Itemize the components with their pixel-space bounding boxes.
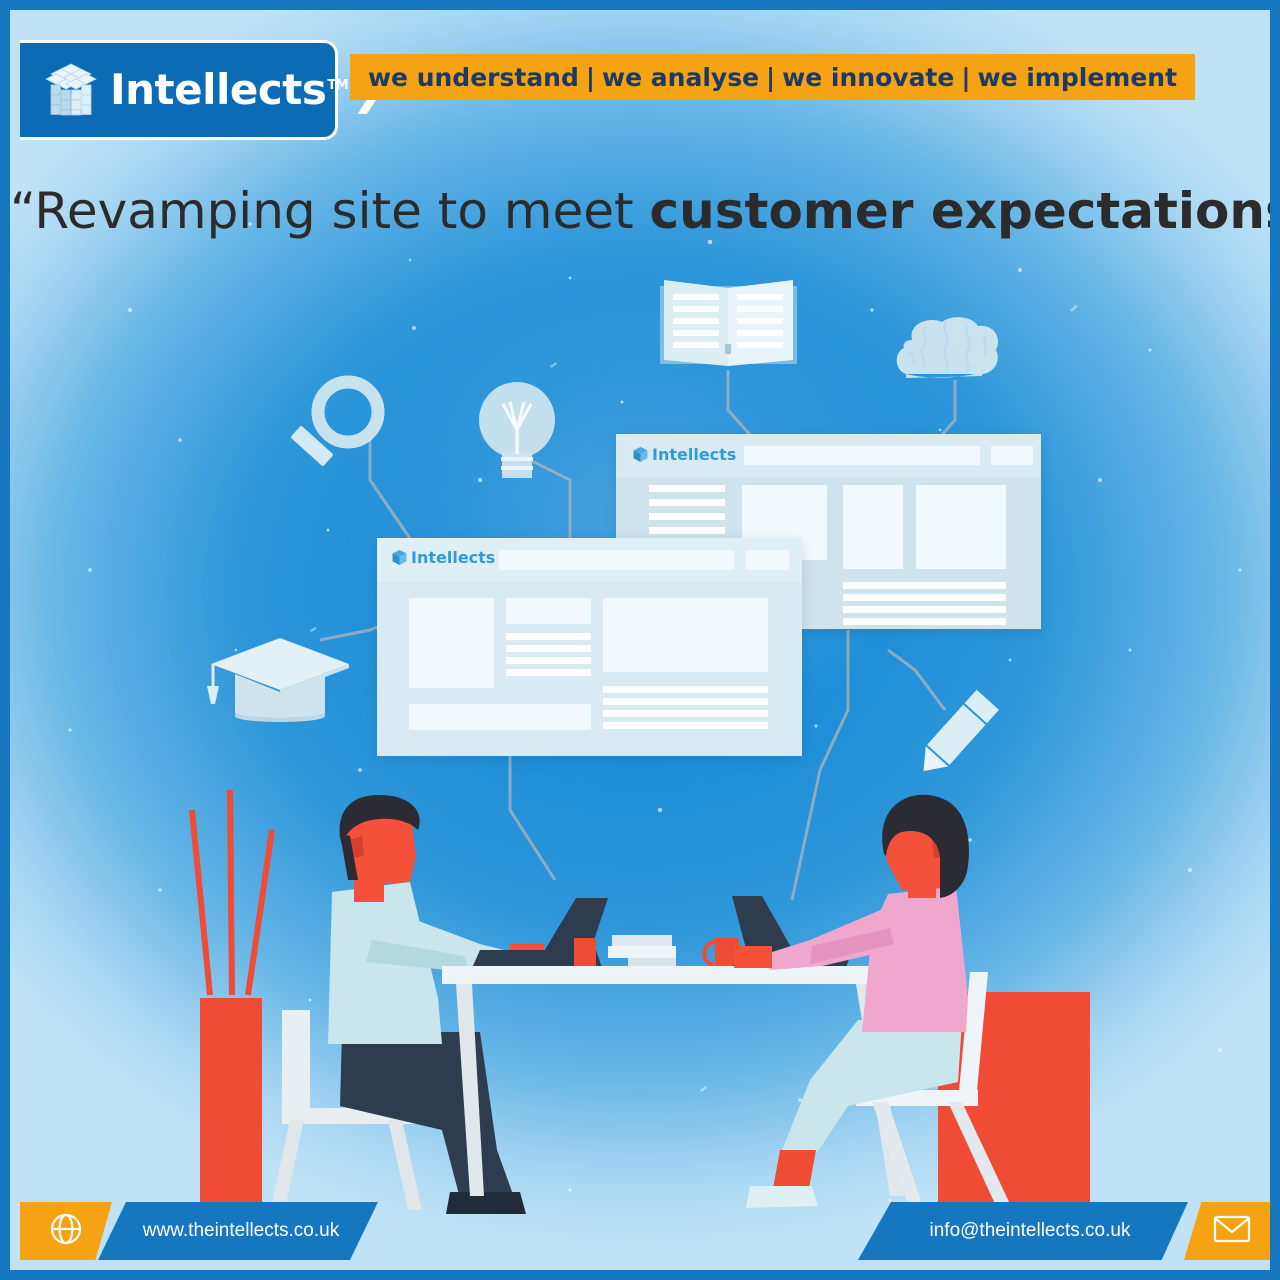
tagline-bar: we understand|we analyse|we innovate|we … xyxy=(350,54,1195,100)
tagline-item-3: we implement xyxy=(977,63,1177,92)
tagline-separator: | xyxy=(961,63,970,92)
red-cup-left xyxy=(574,938,596,970)
brand-logo-plate[interactable]: IntellectsTM❯ xyxy=(20,40,338,140)
globe-badge xyxy=(20,1202,112,1260)
tagline-separator: | xyxy=(586,63,595,92)
website-badge[interactable]: www.theintellects.co.uk xyxy=(98,1202,378,1260)
page-title: “Revamping site to meet customer expecta… xyxy=(10,182,1280,240)
mail-badge xyxy=(1184,1202,1280,1260)
headline-open-quote: “ xyxy=(10,182,34,240)
email-text: info@theintellects.co.uk xyxy=(916,1220,1131,1242)
tagline-item-1: we analyse xyxy=(602,63,759,92)
plant-vase xyxy=(192,790,272,1206)
tagline-item-0: we understand xyxy=(368,63,579,92)
trademark-symbol: TM xyxy=(327,78,348,93)
tagline-separator: | xyxy=(766,63,775,92)
cube-logo-icon xyxy=(42,61,100,119)
poster-canvas: Intellects xyxy=(0,0,1280,1280)
tagline-text: we understand|we analyse|we innovate|we … xyxy=(368,63,1177,92)
headline-bold: customer expectations xyxy=(650,182,1280,240)
person-left-male xyxy=(328,795,544,1214)
envelope-icon xyxy=(1213,1214,1251,1249)
brand-wordmark: IntellectsTM❯ xyxy=(110,69,386,111)
website-text: www.theintellects.co.uk xyxy=(137,1220,339,1242)
person-right-female xyxy=(734,795,969,1208)
email-badge[interactable]: info@theintellects.co.uk xyxy=(858,1202,1188,1260)
headline-normal: Revamping site to meet xyxy=(34,182,649,240)
book-stack xyxy=(608,935,676,968)
globe-icon xyxy=(49,1212,83,1251)
header: IntellectsTM❯ we understand|we analyse|w… xyxy=(20,40,1280,140)
brand-name: Intellects xyxy=(110,65,326,114)
tagline-item-2: we innovate xyxy=(782,63,954,92)
footer: www.theintellects.co.uk info@theintellec… xyxy=(20,1202,1280,1260)
